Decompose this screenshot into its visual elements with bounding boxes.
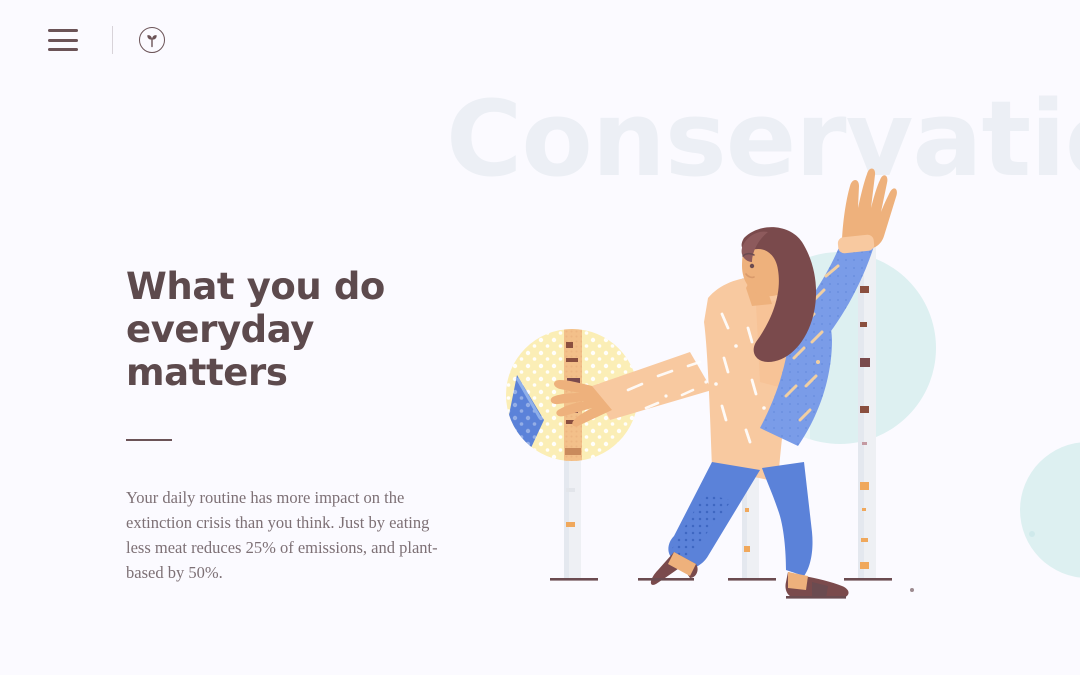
page-stage: Conservation <box>0 0 1080 675</box>
hero-copy: What you do everyday matters Your daily … <box>126 266 466 585</box>
hamburger-bar <box>48 29 78 32</box>
header-divider <box>112 26 113 54</box>
hamburger-icon[interactable] <box>48 29 78 51</box>
hamburger-bar <box>48 39 78 42</box>
hero-paragraph: Your daily routine has more impact on th… <box>126 485 446 585</box>
sprout-logo-icon[interactable] <box>139 27 165 53</box>
ground-lines <box>638 578 914 599</box>
hamburger-bar <box>48 48 78 51</box>
site-header <box>0 0 1080 80</box>
title-divider <box>126 439 172 441</box>
hero-illustration <box>460 90 1080 610</box>
teal-edge-circle <box>1020 442 1080 578</box>
page-title: What you do everyday matters <box>126 266 466 395</box>
